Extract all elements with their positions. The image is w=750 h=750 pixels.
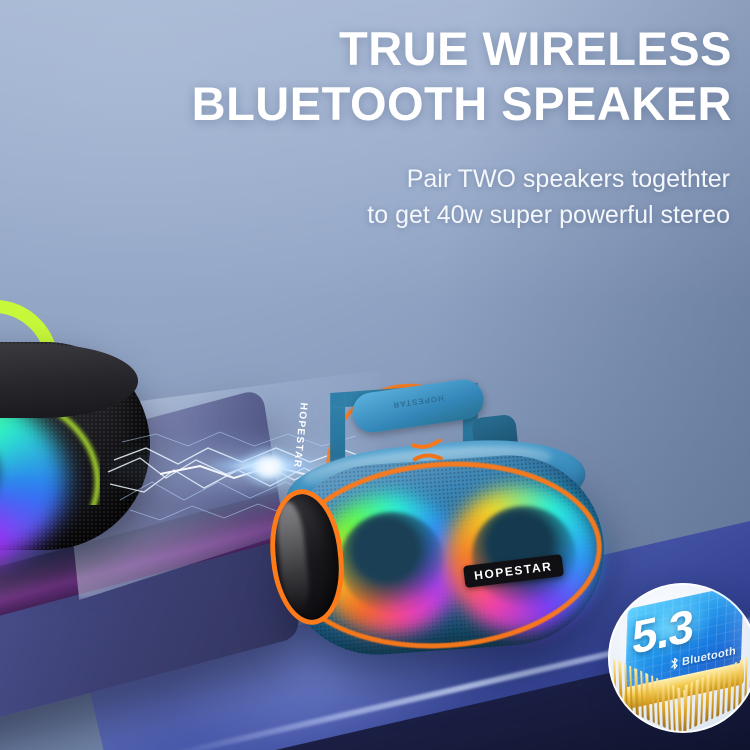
- headline-line-1: TRUE WIRELESS: [339, 22, 732, 75]
- subheadline: Pair TWO speakers togethter to get 40w s…: [0, 162, 730, 233]
- subheadline-line-2: to get 40w super powerful stereo: [367, 201, 730, 229]
- bluetooth-version-badge: 5.3 Bluetooth: [608, 583, 750, 733]
- blue-speaker: HOPESTAR TF USB AUX TYPE-C: [268, 382, 618, 672]
- product-banner: HOPESTAR HOPESTAR: [0, 0, 750, 750]
- bluetooth-icon: [670, 656, 679, 671]
- blue-speaker-side-gloss: [274, 500, 312, 614]
- headline-line-2: BLUETOOTH SPEAKER: [0, 77, 732, 132]
- subheadline-line-1: Pair TWO speakers togethter: [407, 165, 730, 193]
- headline: TRUE WIRELESS BLUETOOTH SPEAKER: [0, 22, 732, 131]
